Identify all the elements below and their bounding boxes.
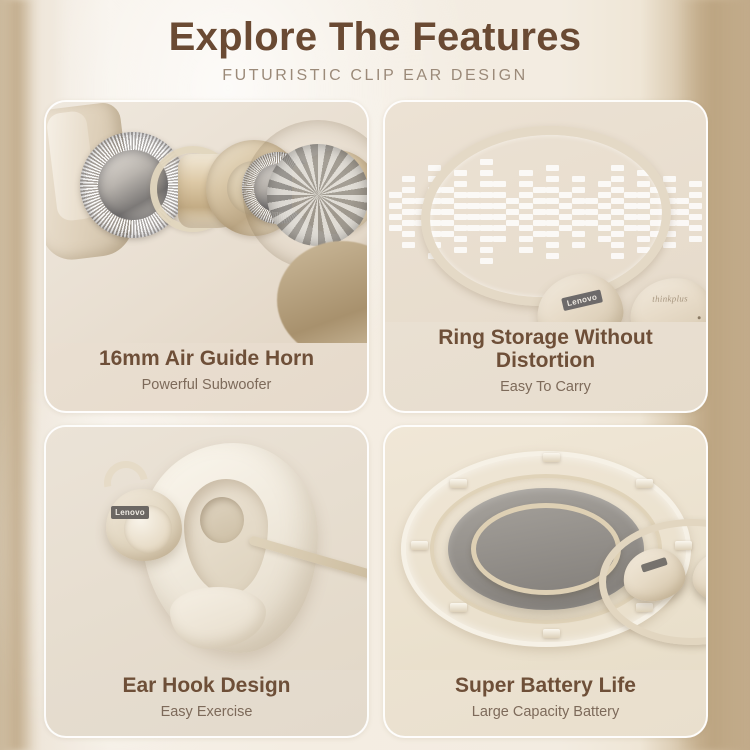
equalizer-segment: [689, 192, 702, 198]
feature-card-ring-storage[interactable]: Lenovo thinkplus Ring Storage Without Di…: [383, 100, 708, 413]
script-mark-label: thinkplus: [652, 293, 688, 304]
caption-battery-life: Super Battery Life Large Capacity Batter…: [385, 670, 706, 736]
feature-card-ear-hook[interactable]: Lenovo Ear Hook Design Easy Exercise: [44, 425, 369, 738]
equalizer-segment: [689, 181, 702, 187]
caption-title: Ring Storage Without Distortion: [395, 326, 696, 373]
brand-badge-icon: Lenovo: [111, 506, 149, 519]
background-band-left: [0, 0, 34, 750]
equalizer-segment: [402, 198, 415, 204]
platform-tick: [411, 541, 428, 550]
ear-canal: [200, 497, 244, 543]
caption-ear-hook: Ear Hook Design Easy Exercise: [46, 670, 367, 736]
feature-card-air-guide-horn[interactable]: 16mm Air Guide Horn Powerful Subwoofer: [44, 100, 369, 413]
page-title: Explore The Features: [0, 14, 750, 60]
feature-card-battery-life[interactable]: Super Battery Life Large Capacity Batter…: [383, 425, 708, 738]
equalizer-segment: [689, 203, 702, 209]
equalizer-segment: [402, 209, 415, 215]
equalizer-segment: [689, 214, 702, 220]
page-subtitle: FUTURISTIC CLIP EAR DESIGN: [0, 67, 750, 85]
caption-subtitle: Easy To Carry: [395, 379, 696, 395]
equalizer-column: [402, 176, 415, 248]
ear-hook-image: Lenovo: [46, 427, 367, 670]
caption-ring-storage: Ring Storage Without Distortion Easy To …: [385, 322, 706, 411]
caption-title: Ear Hook Design: [56, 674, 357, 698]
equalizer-segment: [389, 214, 402, 220]
equalizer-segment: [676, 198, 689, 204]
battery-platform-image: [385, 427, 706, 670]
platform-tick: [450, 479, 467, 488]
equalizer-segment: [389, 203, 402, 209]
equalizer-column: [676, 198, 689, 226]
platform-ring-inner: [471, 503, 621, 595]
caption-title: Super Battery Life: [395, 674, 696, 698]
microphone-dot-icon: [698, 316, 701, 319]
equalizer-column: [389, 192, 402, 231]
page-header: Explore The Features FUTURISTIC CLIP EAR…: [0, 14, 750, 85]
equalizer-segment: [402, 187, 415, 193]
platform-tick: [636, 479, 653, 488]
brand-badge-icon: [641, 557, 668, 573]
caption-subtitle: Easy Exercise: [56, 704, 357, 720]
driver-exploded-image: [46, 102, 367, 343]
equalizer-segment: [676, 209, 689, 215]
equalizer-segment: [389, 225, 402, 231]
equalizer-segment: [689, 225, 702, 231]
equalizer-segment: [663, 242, 676, 248]
platform-tick: [543, 629, 560, 638]
ear-lobe: [170, 587, 266, 649]
equalizer-segment: [689, 236, 702, 242]
ring-storage-image: Lenovo thinkplus: [385, 102, 706, 322]
equalizer-segment: [402, 231, 415, 237]
platform-tick: [543, 453, 560, 462]
feature-card-grid: 16mm Air Guide Horn Powerful Subwoofer L…: [44, 100, 708, 738]
equalizer-segment: [676, 220, 689, 226]
equalizer-segment: [389, 192, 402, 198]
caption-air-guide-horn: 16mm Air Guide Horn Powerful Subwoofer: [46, 343, 367, 411]
caption-subtitle: Large Capacity Battery: [395, 704, 696, 720]
equalizer-segment: [402, 242, 415, 248]
equalizer-segment: [663, 176, 676, 182]
platform-tick: [450, 603, 467, 612]
caption-title: 16mm Air Guide Horn: [56, 347, 357, 371]
equalizer-segment: [402, 176, 415, 182]
caption-subtitle: Powerful Subwoofer: [56, 377, 357, 393]
equalizer-segment: [402, 220, 415, 226]
brand-badge-icon: Lenovo: [561, 289, 603, 311]
equalizer-column: [689, 181, 702, 242]
